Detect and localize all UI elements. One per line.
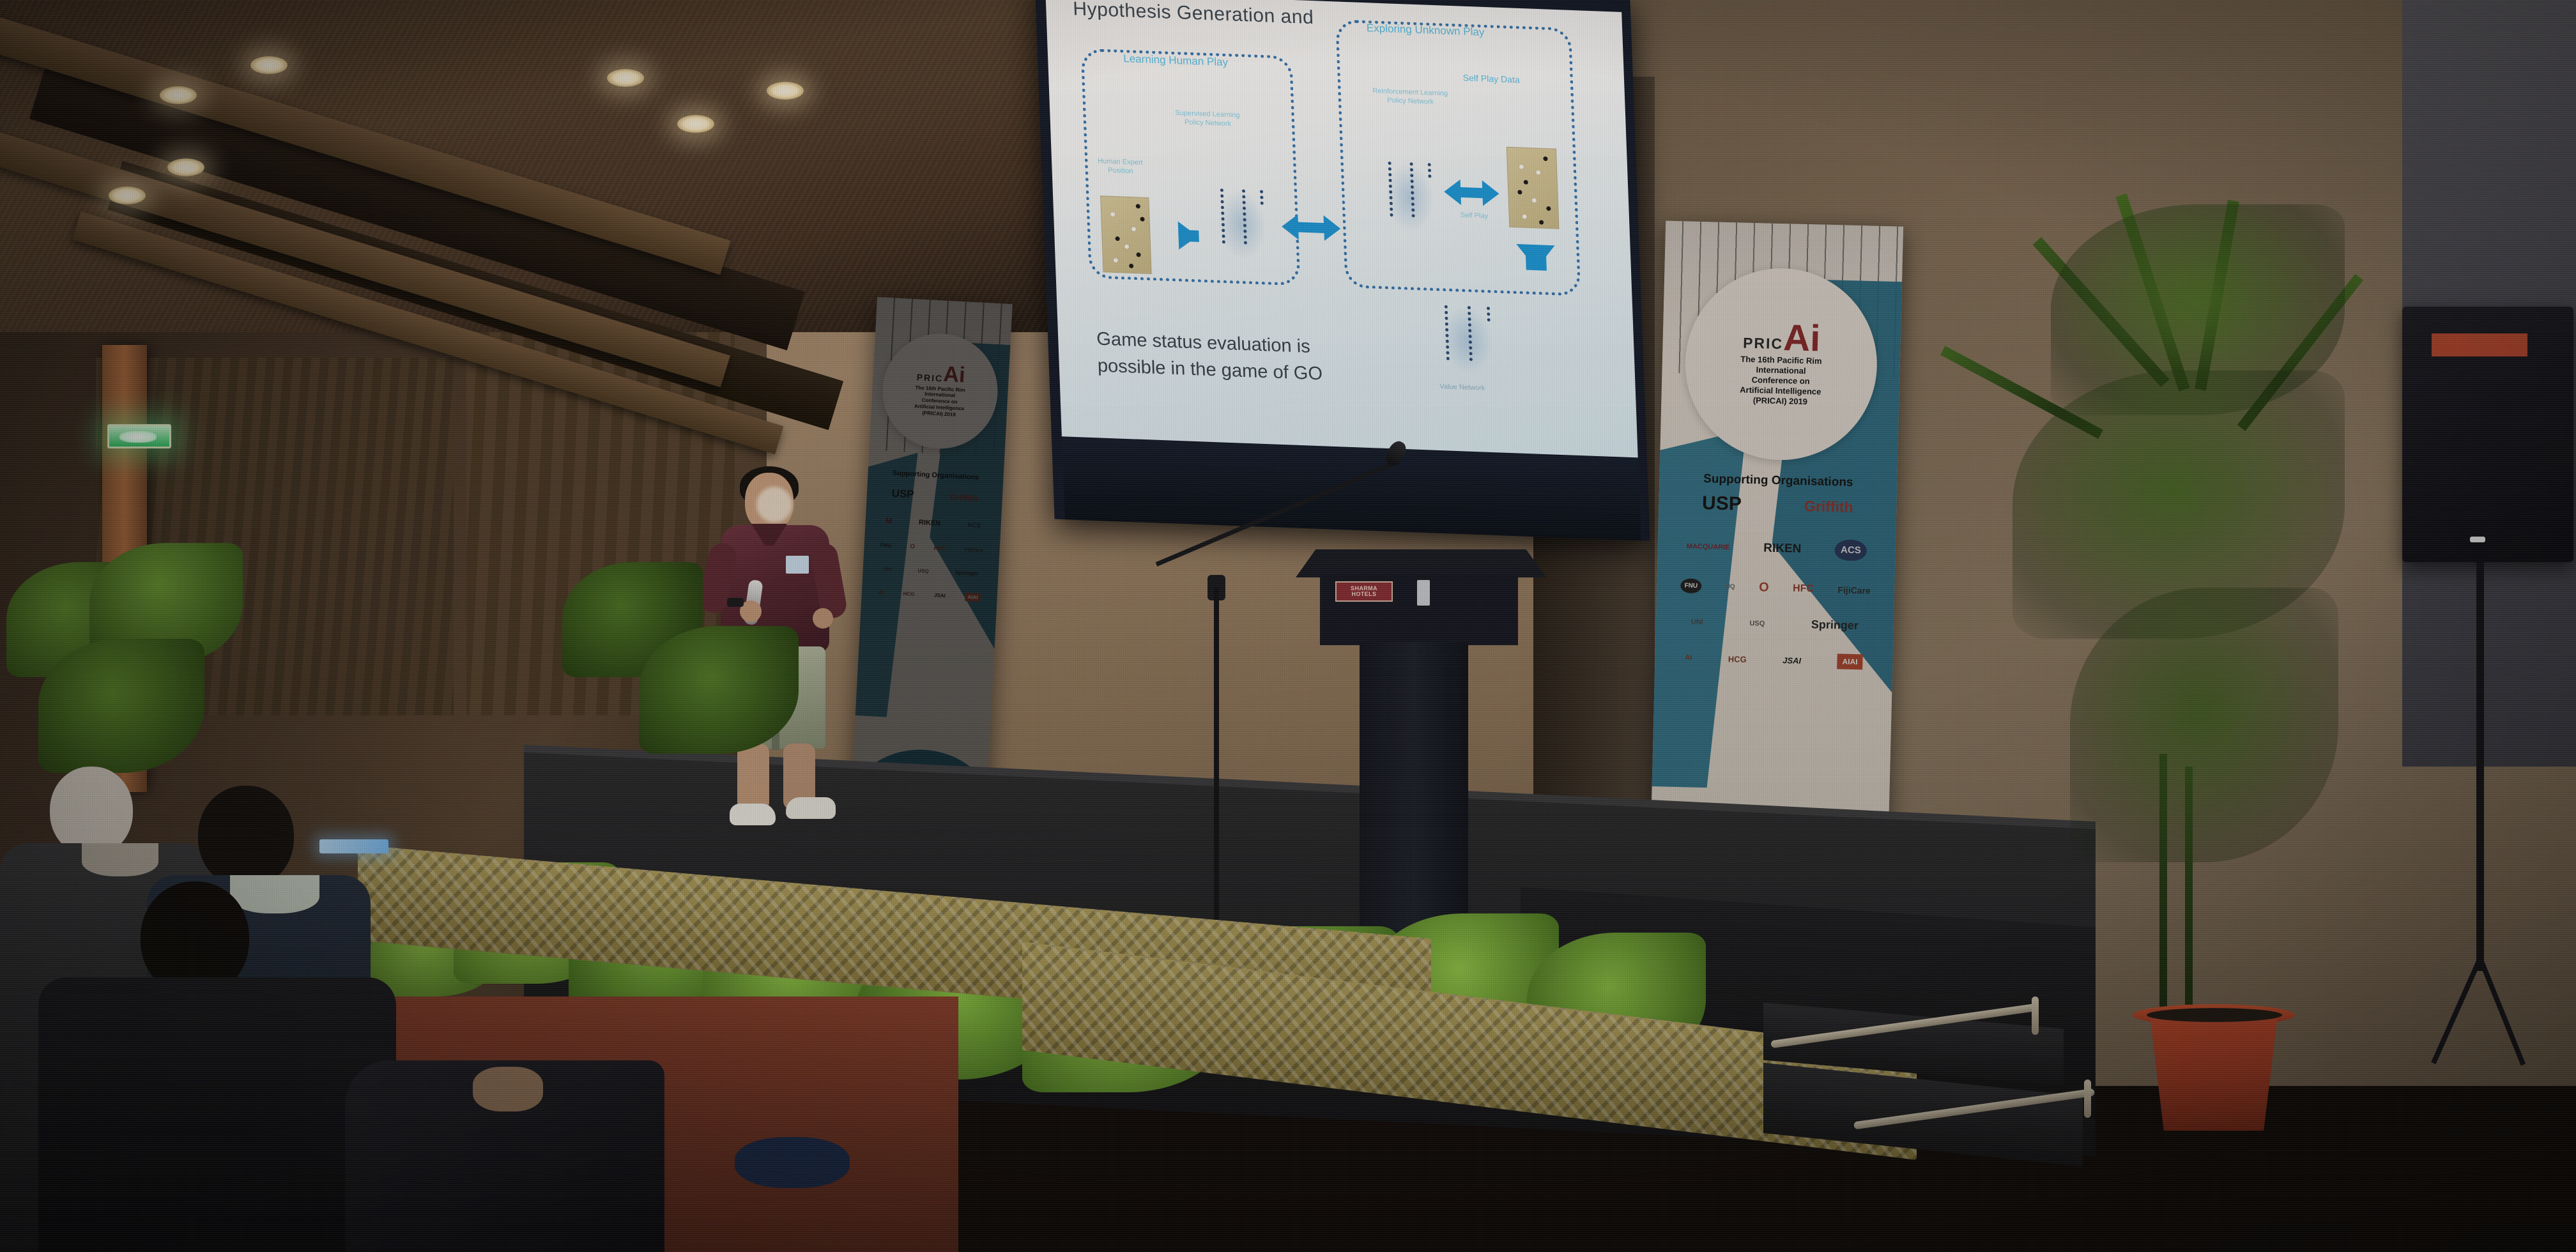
ceiling-downlight-icon [250, 56, 287, 74]
projection-screen: Hypothesis Generation and Learning Human… [1034, 0, 1650, 541]
go-board-image [1506, 147, 1560, 229]
policy-network-diagram [1216, 188, 1268, 261]
pricai-banner-left: PRIC Ai The 16th Pacific Rim Internation… [850, 297, 1013, 814]
rl-policy-network-diagram [1384, 162, 1435, 234]
exit-sign-glow [119, 431, 157, 443]
audience-head [50, 767, 133, 856]
banner-logo-row: M RIKEN ACS [872, 515, 994, 531]
logo-fnu: FNU [1680, 578, 1701, 593]
logo-macquarie: M [885, 516, 893, 526]
pricai-wordmark: PRIC Ai [916, 364, 965, 385]
logo-usq: USQ [917, 567, 929, 574]
logo-hcg: HCG [903, 591, 914, 597]
logo-uq: UQ [1726, 583, 1735, 590]
logo-hfc: HFC [933, 545, 946, 552]
banner-logo-grid: USP Griffith M RIKEN ACS FNU O HFC FijiC… [868, 486, 996, 602]
banner-logo-grid: USP Griffith MACQUARIE RIKEN ACS FNU UQ … [1667, 492, 1885, 670]
palm-stem [2185, 767, 2193, 1022]
slide-sublabel-reinforcement: Reinforcement Learning Policy Network [1372, 87, 1448, 107]
phone-screen-glow [319, 839, 388, 853]
arrow-right-icon [1178, 222, 1199, 250]
pricai-wordmark: PRIC Ai [1743, 321, 1821, 353]
ceiling-downlight-icon [607, 69, 644, 87]
presenter-face-highlight [756, 487, 792, 523]
ceiling-downlight-icon [160, 86, 197, 104]
audience-shoe [735, 1137, 850, 1188]
logo-ai: AI [1685, 654, 1692, 662]
logo-springer: Springer [954, 569, 978, 577]
slide-sublabel-self-play: Self Play [1460, 211, 1488, 221]
logo-aiai: AIAI [965, 593, 981, 602]
slide-self-play-label: Self Play Data [1462, 73, 1519, 85]
logo-uni: UNI [1691, 618, 1703, 625]
logo-riken: RIKEN [1763, 541, 1802, 556]
pricai-ai-text: Ai [1783, 323, 1821, 354]
banner-logo-row: FNU O HFC FijiCare [871, 541, 993, 554]
conference-photo: Hypothesis Generation and Learning Human… [0, 0, 2576, 1252]
logo-o: O [1759, 580, 1769, 595]
lectern-device [1417, 580, 1430, 606]
logo-ai: AI [878, 590, 884, 595]
logo-jsai: JSAI [1782, 655, 1801, 666]
arrow-double-icon [1281, 214, 1341, 241]
audience-collar [82, 843, 158, 876]
plant-pot-soil [2147, 1008, 2282, 1022]
logo-hfc: HFC [1793, 583, 1814, 595]
logo-macquarie: MACQUARIE [1687, 542, 1730, 551]
slide-sublabel-human-expert: Human Expert Position [1098, 157, 1143, 176]
logo-usp: USP [891, 487, 914, 501]
logo-griffith: Griffith [1804, 498, 1853, 516]
audience-head [198, 786, 294, 888]
logo-griffith: Griffith [949, 492, 977, 503]
stage-handrail-post [2032, 996, 2039, 1035]
plant-leaf-clump [38, 639, 204, 773]
arrow-double-icon [1444, 179, 1500, 206]
slide-surface: Hypothesis Generation and Learning Human… [1045, 0, 1637, 457]
logo-jsai: JSAI [934, 592, 946, 599]
pricai-ai-text: Ai [943, 365, 965, 385]
logo-fijicare: FijiCare [1837, 584, 1871, 595]
palm-stem [2159, 754, 2167, 1022]
logo-usq: USQ [1749, 620, 1765, 628]
audience-torso [38, 977, 396, 1252]
logo-springer: Springer [1811, 618, 1859, 632]
logo-riken: RIKEN [919, 519, 941, 528]
plant-leaf-clump [639, 626, 799, 754]
palm-tree-right [1904, 179, 2543, 1035]
banner-logo-row: FNU UQ O HFC FijiCare [1669, 578, 1883, 598]
logo-usp: USP [1702, 492, 1742, 515]
logo-fnu: FNU [880, 542, 891, 549]
slide-sublabel-supervised: Supervised Learning Policy Network [1175, 109, 1240, 129]
slide-title: Hypothesis Generation and [1073, 0, 1314, 29]
slide-caption: Game status evaluation is possible in th… [1096, 326, 1374, 390]
logo-o: O [910, 543, 915, 550]
arrow-down-icon [1516, 244, 1556, 270]
lectern-sign: SHARMA HOTELS [1335, 581, 1393, 602]
banner-conference-text: The 16th Pacific Rim International Confe… [907, 384, 972, 418]
ceiling [0, 0, 1214, 332]
emergency-exit-sign [107, 424, 171, 448]
ceiling-downlight-icon [677, 115, 714, 133]
slide-value-network-label: Value Network [1439, 383, 1485, 393]
logo-hcg: HCG [1728, 654, 1747, 664]
audience-hand [473, 1067, 543, 1111]
palm-canopy [2070, 588, 2338, 862]
stage-handrail-post [2084, 1080, 2091, 1118]
audience-member [38, 882, 396, 1252]
logo-uni: UNI [883, 566, 892, 572]
ceiling-downlight-icon [109, 187, 146, 204]
value-network-diagram [1441, 305, 1494, 376]
pricai-pric-text: PRIC [916, 372, 943, 383]
banner-logo-row: UNI USQ Springer [1667, 615, 1882, 633]
banner-logo-row: MACQUARIE RIKEN ACS [1669, 535, 1884, 561]
banner-conference-text: The 16th Pacific Rim International Confe… [1726, 354, 1836, 407]
logo-acs: ACS [967, 521, 981, 529]
audience-member-arm [345, 1060, 664, 1252]
logo-fijicare: FijiCare [965, 547, 984, 554]
pricai-pric-text: PRIC [1743, 335, 1784, 353]
potted-plant-center [562, 549, 831, 843]
logo-acs: ACS [1835, 539, 1867, 561]
ceiling-downlight-icon [767, 82, 804, 100]
banner-logo-row: USP Griffith [1671, 492, 1885, 519]
lectern-top [1296, 549, 1546, 577]
ceiling-downlight-icon [167, 158, 204, 176]
banner-logo-row: UNI USQ Springer [870, 565, 992, 577]
logo-aiai: AIAI [1837, 653, 1863, 669]
go-board-image [1100, 195, 1152, 274]
plant-pot [2140, 1009, 2287, 1131]
